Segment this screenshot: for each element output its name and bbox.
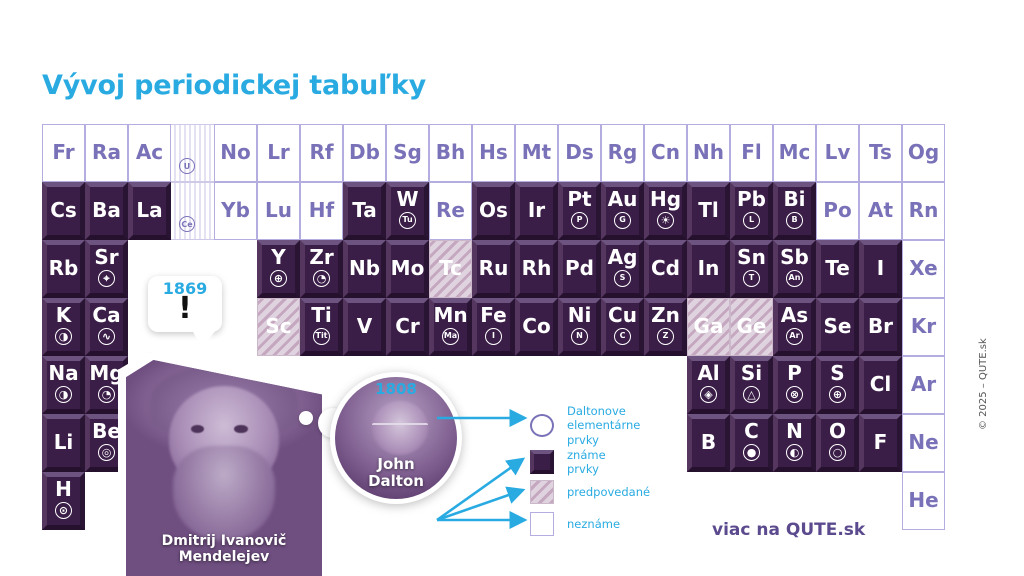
copyright-label: © 2025 – QUTE.sk (978, 338, 989, 430)
element-symbol: B (701, 433, 716, 453)
element-symbol: Mc (779, 143, 811, 163)
element-cell-bh[interactable]: Bh (429, 124, 472, 182)
exclamation-icon: ! (178, 297, 192, 321)
dalton-symbol-icon: Ar (786, 328, 803, 345)
element-cell-as[interactable]: AsAr (773, 298, 816, 356)
element-symbol-group: Fr (43, 125, 84, 181)
element-cell-sr[interactable]: Sr⌖ (85, 240, 128, 298)
element-symbol: H (55, 480, 72, 500)
element-symbol-group: Ds (559, 125, 600, 181)
element-cell-zr[interactable]: Zr◔ (300, 240, 343, 298)
element-cell-li[interactable]: Li (42, 414, 85, 472)
element-symbol-group: La (133, 187, 166, 235)
element-cell-cu[interactable]: CuC (601, 298, 644, 356)
element-symbol: Ge (737, 317, 767, 337)
element-symbol: Ds (565, 143, 594, 163)
legend-swatch-known-icon (530, 450, 554, 474)
element-symbol: Ar (911, 375, 936, 395)
element-symbol-group: B (692, 419, 725, 467)
element-cell-se[interactable]: Se (816, 298, 859, 356)
element-cell-mo[interactable]: Mo (386, 240, 429, 298)
dalton-symbol-icon: ⊗ (786, 386, 803, 403)
element-symbol-group: He (903, 473, 944, 529)
element-cell-og[interactable]: Og (902, 124, 945, 182)
element-symbol: Po (823, 201, 851, 221)
element-symbol: Be (92, 422, 121, 442)
dalton-symbol-icon: ⊕ (270, 270, 287, 287)
element-symbol: As (781, 306, 808, 326)
element-cell-re[interactable]: Re (429, 182, 472, 240)
dalton-symbol-icon: Tit (313, 328, 330, 345)
dalton-caption: John Dalton (330, 456, 462, 490)
element-symbol-group: TiTit (305, 303, 338, 351)
element-symbol-group: Br (864, 303, 897, 351)
element-symbol: Rh (522, 259, 552, 279)
dalton-symbol-icon: G (614, 212, 631, 229)
element-cell-ru[interactable]: Ru (472, 240, 515, 298)
element-symbol-group: Mt (516, 125, 557, 181)
element-cell-c[interactable]: C● (730, 414, 773, 472)
element-symbol-group: BiB (778, 187, 811, 235)
element-cell-os[interactable]: Os (472, 182, 515, 240)
element-cell-cs[interactable]: Cs (42, 182, 85, 240)
element-symbol-group: Co (520, 303, 553, 351)
element-symbol: Hs (479, 143, 508, 163)
element-symbol-group: Hg☀ (649, 187, 682, 235)
dalton-symbol-icon: ◐ (786, 444, 803, 461)
element-symbol: Li (54, 433, 74, 453)
infographic-canvas: Vývoj periodickej tabuľky FrRaAcNoLrRfDb… (0, 0, 1024, 576)
element-symbol-group: Ca∿ (90, 303, 123, 351)
dalton-symbol-icon: B (786, 212, 803, 229)
element-symbol: Au (608, 190, 638, 210)
element-symbol: Hg (650, 190, 681, 210)
glasses-icon (372, 423, 428, 434)
element-symbol: Ac (136, 143, 163, 163)
element-symbol: Ru (479, 259, 509, 279)
element-cell-co[interactable]: Co (515, 298, 558, 356)
element-symbol: Tl (698, 201, 719, 221)
element-symbol-group: FeI (477, 303, 510, 351)
element-symbol-group: AgS (606, 245, 639, 293)
legend-label: Daltonove elementárne prvky (567, 404, 640, 447)
element-symbol: Se (824, 317, 852, 337)
connector-dot-small (299, 411, 313, 425)
element-symbol: Yb (221, 201, 250, 221)
dalton-symbol-icon: ◑ (55, 328, 72, 345)
element-symbol-group: Ge (731, 299, 772, 355)
legend-item-known: známe prvky (530, 448, 606, 477)
dalton-symbol-icon: ☀ (657, 212, 674, 229)
dalton-symbol-icon: △ (743, 386, 760, 403)
element-symbol: Ne (908, 433, 938, 453)
element-symbol: Co (522, 317, 550, 337)
element-symbol-group: WTu (391, 187, 424, 235)
element-symbol: Ba (92, 201, 121, 221)
element-symbol-group: Hs (473, 125, 514, 181)
element-symbol: Ag (608, 248, 638, 268)
element-cell-o[interactable]: O○ (816, 414, 859, 472)
element-cell-n[interactable]: N◐ (773, 414, 816, 472)
element-symbol-group: Tl (692, 187, 725, 235)
element-cell-ge[interactable]: Ge (730, 298, 773, 356)
element-cell-zn[interactable]: ZnZ (644, 298, 687, 356)
element-symbol: Nh (693, 143, 724, 163)
element-cell-xe[interactable]: Xe (902, 240, 945, 298)
element-symbol: Te (825, 259, 850, 279)
legend-item-predicted: predpovedané (530, 480, 650, 504)
element-cell-fe[interactable]: FeI (472, 298, 515, 356)
element-cell-te[interactable]: Te (816, 240, 859, 298)
element-cell-lv[interactable]: Lv (816, 124, 859, 182)
element-symbol: Ga (694, 317, 724, 337)
dalton-symbol-icon: An (786, 270, 803, 287)
fblock-column (171, 124, 214, 182)
legend-item-unknown: neznáme (530, 512, 620, 536)
dalton-symbol-icon: S (614, 270, 631, 287)
element-symbol: Zr (309, 248, 333, 268)
element-cell-p[interactable]: P⊗ (773, 356, 816, 414)
element-cell-hg[interactable]: Hg☀ (644, 182, 687, 240)
element-symbol-group: Sg (387, 125, 428, 181)
mendeleev-caption: Dmitrij Ivanovič Mendelejev (118, 514, 330, 576)
element-cell-ca[interactable]: Ca∿ (85, 298, 128, 356)
element-symbol: Si (741, 364, 762, 384)
element-symbol: Cu (608, 306, 637, 326)
legend-swatch-unknown-icon (530, 512, 554, 536)
dalton-symbol-icon: ◔ (313, 270, 330, 287)
dalton-symbol-icon: L (743, 212, 760, 229)
element-cell-br[interactable]: Br (859, 298, 902, 356)
element-cell-sn[interactable]: SnT (730, 240, 773, 298)
element-symbol: Kr (911, 317, 936, 337)
element-cell-ni[interactable]: NiN (558, 298, 601, 356)
dalton-symbol-icon: ⌖ (98, 270, 115, 287)
element-cell-ti[interactable]: TiTit (300, 298, 343, 356)
fblock-column (171, 182, 214, 240)
dalton-symbol-icon: C (614, 328, 631, 345)
element-symbol-group: Ar (903, 357, 944, 413)
element-symbol: No (220, 143, 250, 163)
page-title: Vývoj periodickej tabuľky (42, 70, 426, 101)
element-symbol-group: S⊕ (821, 361, 854, 409)
element-symbol: Lv (825, 143, 851, 163)
element-symbol: Zn (651, 306, 680, 326)
element-cell-tl[interactable]: Tl (687, 182, 730, 240)
element-symbol: La (136, 201, 162, 221)
element-symbol-group: ZnZ (649, 303, 682, 351)
dalton-symbol-icon: T (743, 270, 760, 287)
element-symbol: Pt (567, 190, 591, 210)
element-cell-mn[interactable]: MnMa (429, 298, 472, 356)
element-symbol-group: Os (477, 187, 510, 235)
dalton-year: 1808 (330, 380, 462, 398)
element-symbol-group: At (860, 183, 901, 239)
element-cell-ra[interactable]: Ra (85, 124, 128, 182)
element-symbol: Sn (737, 248, 766, 268)
element-symbol: Ca (92, 306, 120, 326)
element-cell-rg[interactable]: Rg (601, 124, 644, 182)
element-symbol: V (357, 317, 372, 337)
element-symbol-group: Kr (903, 299, 944, 355)
element-cell-hs[interactable]: Hs (472, 124, 515, 182)
dalton-symbol-icon: ◑ (55, 386, 72, 403)
legend-item-circle: Daltonove elementárne prvky (530, 404, 640, 447)
element-symbol: At (868, 201, 893, 221)
element-symbol: Cl (870, 375, 892, 395)
element-symbol-group: Lu (258, 183, 299, 239)
element-symbol-group: Rg (602, 125, 643, 181)
element-cell-pb[interactable]: PbL (730, 182, 773, 240)
element-cell-he[interactable]: He (902, 472, 945, 530)
element-symbol-group: Pd (563, 245, 596, 293)
element-symbol-group: Og (903, 125, 944, 181)
element-symbol-group: Mc (774, 125, 815, 181)
element-symbol: O (829, 422, 846, 442)
element-symbol: Pd (565, 259, 594, 279)
element-symbol-group: Se (821, 303, 854, 351)
element-symbol: Pb (737, 190, 766, 210)
element-cell-b[interactable]: B (687, 414, 730, 472)
element-cell-sc[interactable]: Sc (257, 298, 300, 356)
more-info-link[interactable]: viac na QUTE.sk (712, 520, 865, 540)
element-cell-ga[interactable]: Ga (687, 298, 730, 356)
element-symbol: Al (697, 364, 719, 384)
element-cell-kr[interactable]: Kr (902, 298, 945, 356)
element-symbol-group: Lr (258, 125, 299, 181)
element-symbol-group: In (692, 245, 725, 293)
element-symbol-group: Cl (864, 361, 897, 409)
element-cell-h[interactable]: H⊙ (42, 472, 85, 530)
element-symbol-group: K◑ (47, 303, 80, 351)
element-symbol-group: AsAr (778, 303, 811, 351)
element-symbol: Ni (568, 306, 592, 326)
element-cell-nb[interactable]: Nb (343, 240, 386, 298)
element-symbol-group: SbAn (778, 245, 811, 293)
element-symbol: Cr (395, 317, 420, 337)
dalton-symbol-icon: ● (743, 444, 760, 461)
element-symbol: Cd (651, 259, 680, 279)
element-symbol-group: Ra (86, 125, 127, 181)
element-cell-sg[interactable]: Sg (386, 124, 429, 182)
element-cell-mc[interactable]: Mc (773, 124, 816, 182)
element-cell-at[interactable]: At (859, 182, 902, 240)
dalton-symbol-icon: ⊙ (55, 502, 72, 519)
element-cell-ts[interactable]: Ts (859, 124, 902, 182)
element-symbol-group: MnMa (434, 303, 467, 351)
element-symbol-group: Po (817, 183, 858, 239)
element-cell-pt[interactable]: PtP (558, 182, 601, 240)
element-symbol-group: PbL (735, 187, 768, 235)
element-cell-ta[interactable]: Ta (343, 182, 386, 240)
element-symbol: Sg (393, 143, 422, 163)
element-cell-rn[interactable]: Rn (902, 182, 945, 240)
element-symbol: Bi (783, 190, 805, 210)
element-cell-cr[interactable]: Cr (386, 298, 429, 356)
dalton-symbol-icon: N (571, 328, 588, 345)
element-cell-v[interactable]: V (343, 298, 386, 356)
element-symbol: Rg (608, 143, 638, 163)
element-symbol: Sc (265, 317, 291, 337)
element-symbol: Xe (909, 259, 937, 279)
element-cell-ag[interactable]: AgS (601, 240, 644, 298)
element-cell-nh[interactable]: Nh (687, 124, 730, 182)
element-symbol-group: H⊙ (47, 477, 80, 525)
element-cell-i[interactable]: I (859, 240, 902, 298)
element-cell-in[interactable]: In (687, 240, 730, 298)
element-symbol-group: Rh (520, 245, 553, 293)
element-cell-al[interactable]: Al◈ (687, 356, 730, 414)
element-symbol: He (908, 491, 938, 511)
element-symbol: Cs (50, 201, 77, 221)
element-cell-k[interactable]: K◑ (42, 298, 85, 356)
element-cell-s[interactable]: S⊕ (816, 356, 859, 414)
element-cell-sb[interactable]: SbAn (773, 240, 816, 298)
element-symbol-group: Rf (301, 125, 342, 181)
element-symbol-group: PtP (563, 187, 596, 235)
element-symbol-group: Li (47, 419, 80, 467)
element-symbol-group: Al◈ (692, 361, 725, 409)
element-symbol-group: Zr◔ (305, 245, 338, 293)
element-symbol: Mo (391, 259, 425, 279)
element-symbol-group: Cs (47, 187, 80, 235)
element-symbol: Sr (94, 248, 118, 268)
element-cell-ar[interactable]: Ar (902, 356, 945, 414)
element-cell-no[interactable]: No (214, 124, 257, 182)
element-symbol-group: Y⊕ (262, 245, 295, 293)
element-cell-tc[interactable]: Tc (429, 240, 472, 298)
element-cell-cd[interactable]: Cd (644, 240, 687, 298)
element-symbol-group: Ru (477, 245, 510, 293)
element-cell-lu[interactable]: Lu (257, 182, 300, 240)
element-cell-na[interactable]: Na◑ (42, 356, 85, 414)
element-cell-la[interactable]: La (128, 182, 171, 240)
element-symbol: Re (436, 201, 465, 221)
element-symbol: Na (48, 364, 78, 384)
element-symbol: S (830, 364, 844, 384)
element-symbol: Mn (433, 306, 467, 326)
element-symbol: Os (479, 201, 508, 221)
element-symbol-group: Sc (258, 299, 299, 355)
element-symbol: Y (271, 248, 285, 268)
mendeleev-name-line1: Dmitrij Ivanovič (162, 533, 287, 550)
dalton-symbol-icon: ⊕ (829, 386, 846, 403)
element-cell-w[interactable]: WTu (386, 182, 429, 240)
element-symbol-group: Ir (520, 187, 553, 235)
element-cell-bi[interactable]: BiB (773, 182, 816, 240)
dalton-portrait-card: 1808 John Dalton (330, 372, 462, 504)
element-symbol: K (56, 306, 72, 326)
element-cell-ds[interactable]: Ds (558, 124, 601, 182)
dalton-symbol-icon: ∿ (98, 328, 115, 345)
element-symbol-group: NiN (563, 303, 596, 351)
element-cell-ir[interactable]: Ir (515, 182, 558, 240)
dalton-symbol-icon: Ma (442, 328, 459, 345)
element-cell-fl[interactable]: Fl (730, 124, 773, 182)
element-symbol: Db (349, 143, 380, 163)
element-symbol: Og (908, 143, 939, 163)
element-symbol: Fl (741, 143, 762, 163)
legend-label: neznáme (567, 517, 620, 531)
element-symbol: Sb (780, 248, 809, 268)
element-symbol-group: Sr⌖ (90, 245, 123, 293)
dalton-symbol-icon: P (571, 212, 588, 229)
element-symbol: Bh (436, 143, 465, 163)
element-symbol: N (786, 422, 803, 442)
element-cell-si[interactable]: Si△ (730, 356, 773, 414)
element-cell-po[interactable]: Po (816, 182, 859, 240)
element-cell-hf[interactable]: Hf (300, 182, 343, 240)
element-cell-pd[interactable]: Pd (558, 240, 601, 298)
mendeleev-eye-right (234, 425, 248, 434)
element-cell-y[interactable]: Y⊕ (257, 240, 300, 298)
element-symbol-group: Ne (903, 415, 944, 471)
dalton-symbol-icon: I (485, 328, 502, 345)
element-symbol-group: CuC (606, 303, 639, 351)
element-symbol-group: Re (430, 183, 471, 239)
element-cell-rf[interactable]: Rf (300, 124, 343, 182)
element-cell-ne[interactable]: Ne (902, 414, 945, 472)
element-symbol-group: No (215, 125, 256, 181)
element-symbol: Fr (52, 143, 74, 163)
element-symbol-group: Hf (301, 183, 342, 239)
element-cell-mt[interactable]: Mt (515, 124, 558, 182)
element-symbol: Ir (528, 201, 545, 221)
element-symbol: Lu (265, 201, 292, 221)
element-cell-au[interactable]: AuG (601, 182, 644, 240)
element-symbol-group: Tc (430, 241, 471, 297)
element-symbol-group: Si△ (735, 361, 768, 409)
element-cell-cl[interactable]: Cl (859, 356, 902, 414)
element-symbol-group: Cd (649, 245, 682, 293)
mendeleev-name-line2: Mendelejev (179, 549, 270, 566)
element-symbol-group: Cn (645, 125, 686, 181)
element-cell-f[interactable]: F (859, 414, 902, 472)
mendeleev-portrait-card: Dmitrij Ivanovič Mendelejev (118, 352, 330, 576)
legend-swatch-predicted-icon (530, 480, 554, 504)
element-symbol: Ra (92, 143, 121, 163)
element-symbol: Ti (311, 306, 332, 326)
element-symbol: Nb (349, 259, 380, 279)
element-symbol-group: Nh (688, 125, 729, 181)
element-symbol-group: C● (735, 419, 768, 467)
element-symbol-group: Te (821, 245, 854, 293)
element-cell-rb[interactable]: Rb (42, 240, 85, 298)
element-symbol: Mt (522, 143, 551, 163)
dalton-symbol-icon: ◔ (98, 386, 115, 403)
element-cell-rh[interactable]: Rh (515, 240, 558, 298)
element-symbol: Tc (439, 259, 462, 279)
element-cell-cn[interactable]: Cn (644, 124, 687, 182)
element-cell-ba[interactable]: Ba (85, 182, 128, 240)
fblock-badge-u: U (179, 158, 195, 174)
element-symbol-group: Ga (688, 299, 729, 355)
element-symbol-group: AuG (606, 187, 639, 235)
element-symbol: I (877, 259, 884, 279)
element-symbol-group: I (864, 245, 897, 293)
element-cell-fr[interactable]: Fr (42, 124, 85, 182)
element-cell-yb[interactable]: Yb (214, 182, 257, 240)
element-cell-db[interactable]: Db (343, 124, 386, 182)
element-cell-lr[interactable]: Lr (257, 124, 300, 182)
element-cell-ac[interactable]: Ac (128, 124, 171, 182)
element-symbol-group: Bh (430, 125, 471, 181)
element-symbol: Ta (352, 201, 377, 221)
legend-swatch-circle-icon (530, 414, 554, 437)
dalton-symbol-icon: ◈ (700, 386, 717, 403)
element-symbol-group: Fl (731, 125, 772, 181)
element-symbol-group: Rn (903, 183, 944, 239)
